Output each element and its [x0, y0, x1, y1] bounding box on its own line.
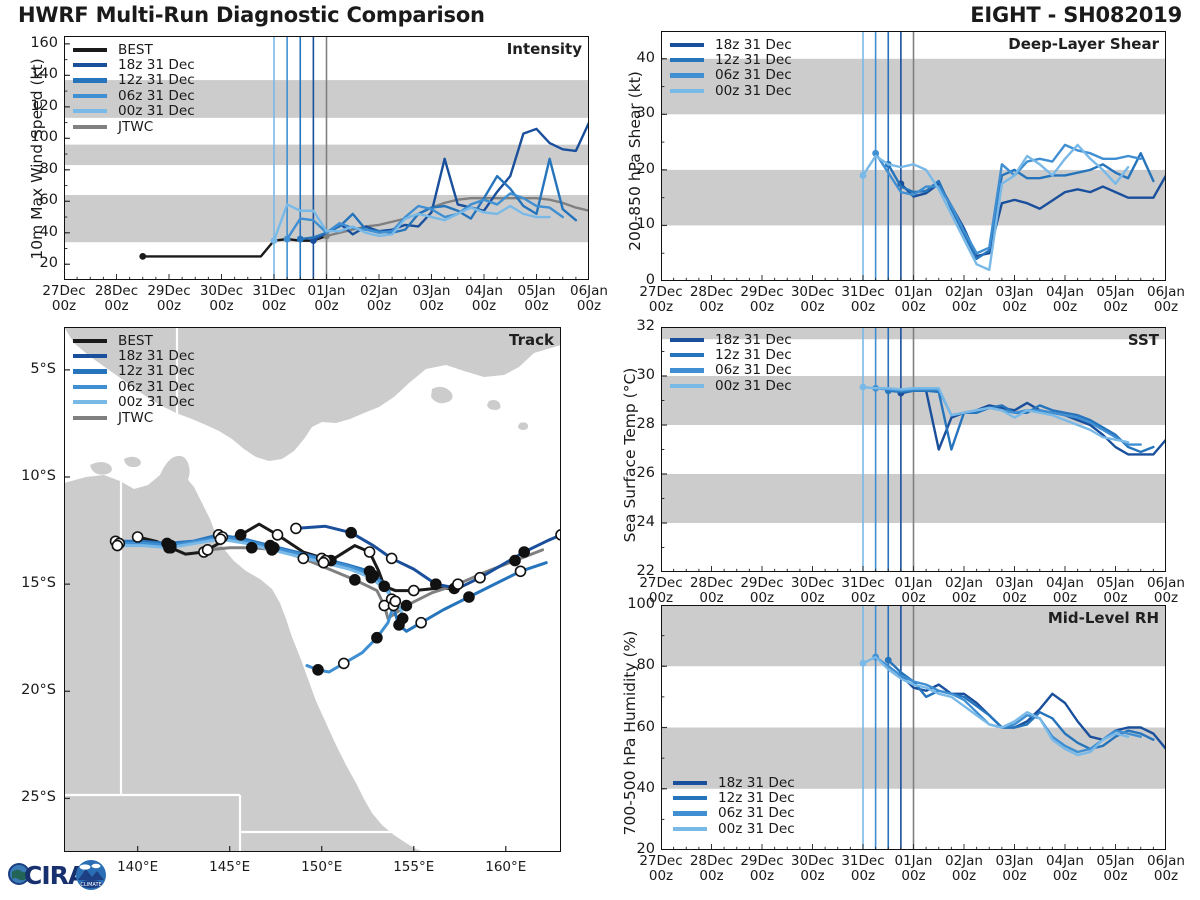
legend-item: 06z 31 Dec	[73, 379, 195, 394]
legend-swatch	[670, 338, 704, 342]
panel-rh[interactable]: Mid-Level RH 18z 31 Dec12z 31 Dec06z 31 …	[661, 605, 1166, 850]
legend-item: BEST	[73, 42, 195, 57]
legend-label: 00z 31 Dec	[715, 83, 792, 99]
y-tick-label: 20	[10, 255, 58, 271]
legend-label: 18z 31 Dec	[718, 775, 795, 791]
legend-label: JTWC	[118, 119, 153, 135]
legend-swatch	[73, 94, 107, 98]
legend-item: 12z 31 Dec	[670, 52, 792, 67]
legend-swatch	[73, 125, 107, 129]
y-tick-label: 100	[607, 596, 655, 612]
legend-item: 18z 31 Dec	[673, 775, 795, 790]
intensity-legend: BEST18z 31 Dec12z 31 Dec06z 31 Dec00z 31…	[73, 42, 195, 134]
legend-swatch	[73, 416, 107, 420]
legend-item: 18z 31 Dec	[73, 57, 195, 72]
y-tick-label: 10	[607, 216, 655, 232]
x-tick-label: 06Jan00z	[1134, 285, 1198, 315]
legend-label: 18z 31 Dec	[118, 57, 195, 73]
y-tick-label: 100	[10, 129, 58, 145]
y-tick-label: 40	[10, 224, 58, 240]
legend-item: 00z 31 Dec	[673, 821, 795, 836]
legend-label: 12z 31 Dec	[715, 52, 792, 68]
legend-item: 06z 31 Dec	[73, 88, 195, 103]
legend-swatch	[73, 369, 107, 373]
legend-item: 12z 31 Dec	[73, 73, 195, 88]
legend-label: 12z 31 Dec	[118, 363, 195, 379]
diagnostic-figure: HWRF Multi-Run Diagnostic Comparison EIG…	[0, 0, 1200, 900]
legend-label: JTWC	[118, 410, 153, 426]
legend-swatch	[670, 43, 704, 47]
legend-item: 06z 31 Dec	[670, 363, 792, 378]
y-tick-label: 20	[607, 161, 655, 177]
y-tick-label: 30	[607, 105, 655, 121]
y-tick-label: 80	[10, 161, 58, 177]
legend-label: 06z 31 Dec	[118, 379, 195, 395]
page-title-right: EIGHT - SH082019	[970, 3, 1182, 27]
legend-label: BEST	[118, 333, 153, 349]
legend-swatch	[73, 339, 107, 343]
y-tick-label: 140	[10, 66, 58, 82]
y-tick-label: 60	[10, 192, 58, 208]
legend-label: 18z 31 Dec	[715, 332, 792, 348]
track-panel-label: Track	[509, 331, 554, 349]
legend-item: 00z 31 Dec	[73, 395, 195, 410]
lat-tick-label: 15°S	[0, 575, 56, 591]
legend-swatch	[73, 63, 107, 67]
rh-panel-label: Mid-Level RH	[1048, 609, 1159, 627]
lat-tick-label: 25°S	[0, 789, 56, 805]
intensity-panel-label: Intensity	[507, 40, 582, 58]
y-tick-label: 160	[10, 35, 58, 51]
legend-swatch	[73, 400, 107, 404]
sst-legend: 18z 31 Dec12z 31 Dec06z 31 Dec00z 31 Dec	[670, 332, 792, 394]
legend-swatch	[673, 796, 707, 800]
x-tick-label: 06Jan00z	[557, 284, 621, 314]
legend-label: 06z 31 Dec	[715, 362, 792, 378]
legend-swatch	[673, 811, 707, 815]
y-tick-label: 28	[607, 416, 655, 432]
legend-swatch	[73, 109, 107, 113]
legend-label: 18z 31 Dec	[118, 348, 195, 364]
y-tick-label: 26	[607, 465, 655, 481]
y-tick-label: 32	[607, 318, 655, 334]
legend-swatch	[673, 827, 707, 831]
legend-label: 00z 31 Dec	[715, 378, 792, 394]
lon-tick-label: 155°E	[374, 860, 454, 875]
legend-swatch	[73, 354, 107, 358]
panel-shear[interactable]: Deep-Layer Shear 18z 31 Dec12z 31 Dec06z…	[661, 31, 1166, 281]
legend-label: 06z 31 Dec	[715, 67, 792, 83]
legend-item: 00z 31 Dec	[73, 104, 195, 119]
legend-swatch	[73, 48, 107, 52]
legend-item: BEST	[73, 333, 195, 348]
legend-item: 00z 31 Dec	[670, 83, 792, 98]
y-tick-label: 60	[607, 719, 655, 735]
panel-intensity[interactable]: Intensity BEST18z 31 Dec12z 31 Dec06z 31…	[64, 36, 589, 280]
legend-swatch	[670, 384, 704, 388]
legend-item: 06z 31 Dec	[673, 806, 795, 821]
legend-swatch	[73, 385, 107, 389]
legend-label: 18z 31 Dec	[715, 37, 792, 53]
legend-label: 12z 31 Dec	[118, 72, 195, 88]
legend-item: 12z 31 Dec	[73, 364, 195, 379]
legend-swatch	[670, 368, 704, 372]
lon-tick-label: 150°E	[282, 860, 362, 875]
y-tick-label: 120	[10, 98, 58, 114]
y-tick-label: 40	[607, 50, 655, 66]
cira-logo: CIRA CLIMATE	[6, 852, 110, 896]
legend-swatch	[673, 781, 707, 785]
y-tick-label: 24	[607, 514, 655, 530]
legend-label: 06z 31 Dec	[718, 805, 795, 821]
lat-tick-label: 10°S	[0, 468, 56, 484]
legend-swatch	[670, 58, 704, 62]
legend-item: 18z 31 Dec	[73, 348, 195, 363]
shear-legend: 18z 31 Dec12z 31 Dec06z 31 Dec00z 31 Dec	[670, 37, 792, 99]
sst-panel-label: SST	[1128, 331, 1159, 349]
shear-panel-label: Deep-Layer Shear	[1008, 35, 1159, 53]
legend-label: 00z 31 Dec	[118, 103, 195, 119]
track-legend: BEST18z 31 Dec12z 31 Dec06z 31 Dec00z 31…	[73, 333, 195, 425]
y-tick-label: 40	[607, 780, 655, 796]
lat-tick-label: 20°S	[0, 682, 56, 698]
x-tick-label: 06Jan00z	[1134, 854, 1198, 884]
legend-item: JTWC	[73, 119, 195, 134]
legend-item: 00z 31 Dec	[670, 378, 792, 393]
legend-item: 06z 31 Dec	[670, 68, 792, 83]
page-title-left: HWRF Multi-Run Diagnostic Comparison	[18, 3, 485, 27]
legend-label: 12z 31 Dec	[715, 347, 792, 363]
legend-swatch	[670, 73, 704, 77]
legend-item: JTWC	[73, 410, 195, 425]
legend-label: BEST	[118, 42, 153, 58]
y-tick-label: 80	[607, 657, 655, 673]
legend-swatch	[670, 89, 704, 93]
legend-item: 12z 31 Dec	[670, 347, 792, 362]
y-tick-label: 30	[607, 367, 655, 383]
legend-swatch	[670, 353, 704, 357]
panel-track[interactable]: Track BEST18z 31 Dec12z 31 Dec06z 31 Dec…	[64, 327, 561, 852]
legend-swatch	[73, 78, 107, 82]
legend-item: 18z 31 Dec	[670, 332, 792, 347]
rh-legend: 18z 31 Dec12z 31 Dec06z 31 Dec00z 31 Dec	[673, 775, 795, 837]
legend-item: 12z 31 Dec	[673, 790, 795, 805]
lon-tick-label: 145°E	[190, 860, 270, 875]
legend-label: 00z 31 Dec	[718, 821, 795, 837]
panel-sst[interactable]: SST 18z 31 Dec12z 31 Dec06z 31 Dec00z 31…	[661, 327, 1166, 572]
lat-tick-label: 5°S	[0, 361, 56, 377]
legend-item: 18z 31 Dec	[670, 37, 792, 52]
legend-label: 12z 31 Dec	[718, 790, 795, 806]
x-tick-label: 06Jan00z	[1134, 576, 1198, 606]
legend-label: 00z 31 Dec	[118, 394, 195, 410]
legend-label: 06z 31 Dec	[118, 88, 195, 104]
lon-tick-label: 160°E	[466, 860, 546, 875]
svg-text:CLIMATE: CLIMATE	[80, 882, 101, 888]
